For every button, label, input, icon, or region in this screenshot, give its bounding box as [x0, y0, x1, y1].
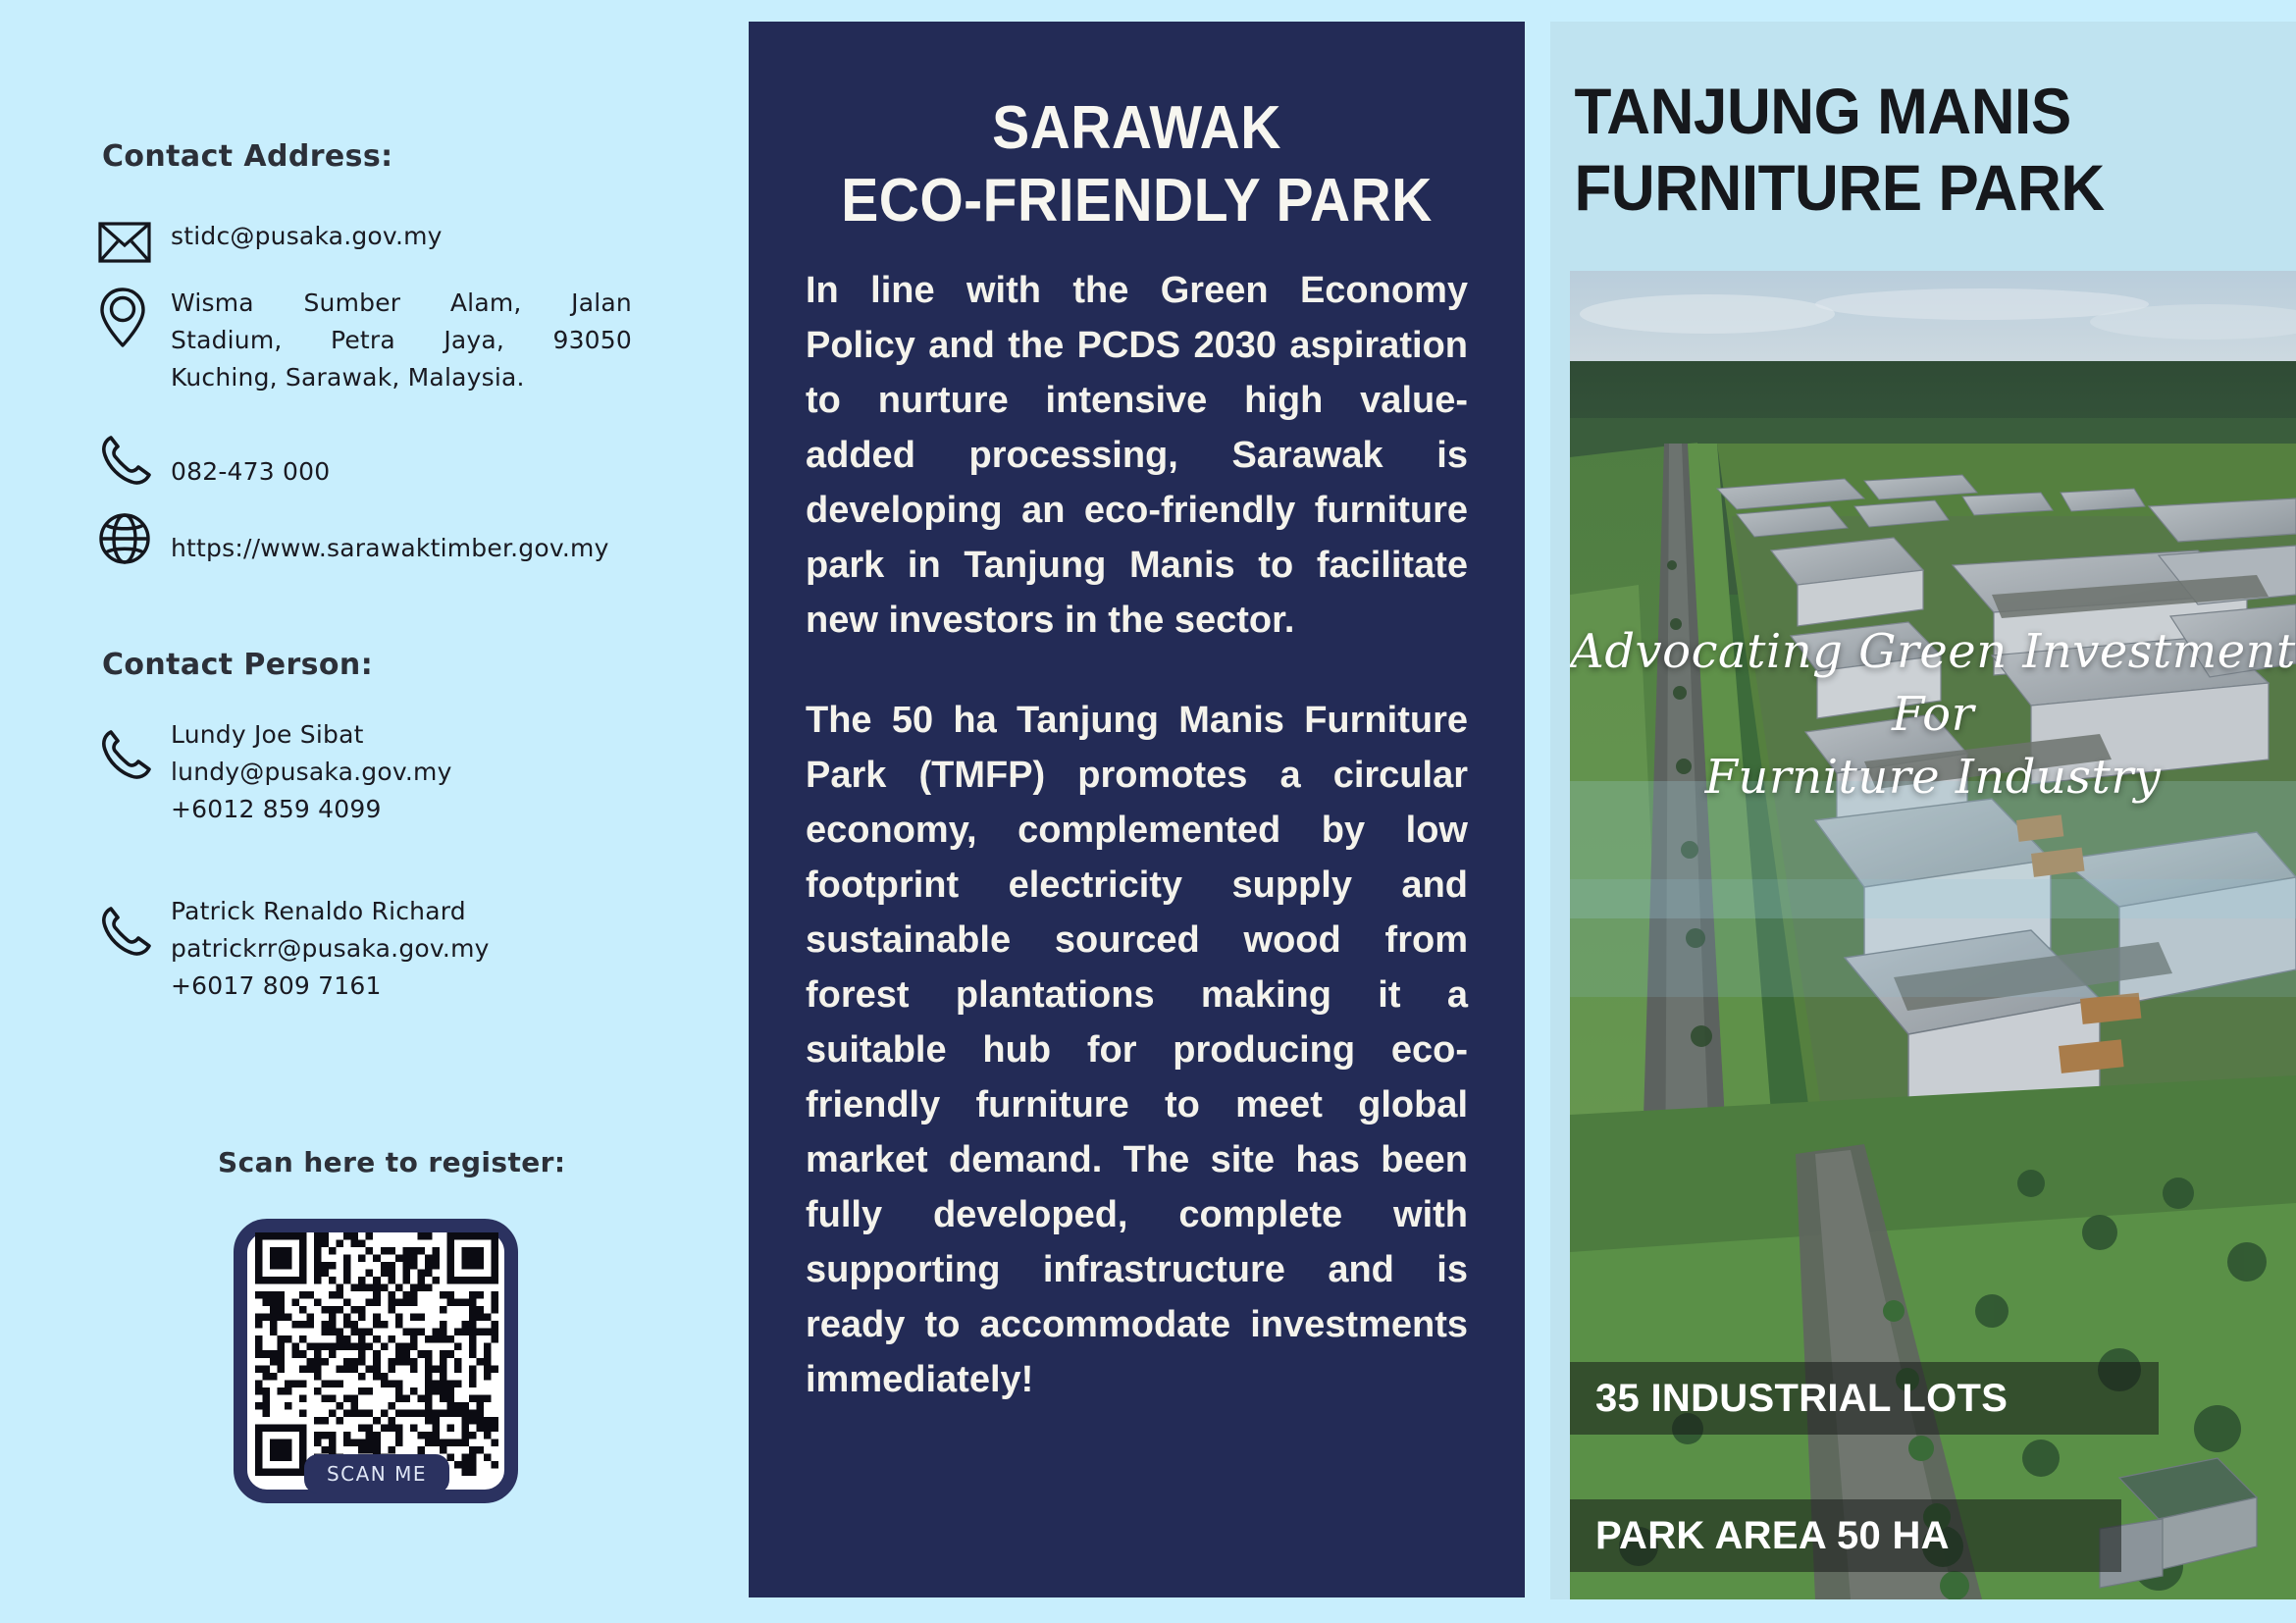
scan-here-heading: Scan here to register: [218, 1146, 565, 1178]
person-2-details: Patrick Renaldo Richard patrickrr@pusaka… [171, 893, 490, 1005]
scan-me-badge: SCAN ME [304, 1454, 449, 1493]
qr-code-image[interactable] [255, 1232, 498, 1476]
location-pin-icon [98, 285, 171, 349]
person-1-email[interactable]: lundy@pusaka.gov.my [171, 754, 452, 791]
phone-icon [98, 432, 171, 487]
center-panel-title: SARAWAK ECO-FRIENDLY PARK [780, 22, 1494, 237]
center-paragraph-1: In line with the Green Economy Policy an… [806, 263, 1468, 648]
center-paragraph-2: The 50 ha Tanjung Manis Furniture Park (… [806, 693, 1468, 1407]
address-word: Petra [331, 322, 395, 359]
contact-phone[interactable]: 082-473 000 [171, 432, 330, 491]
description-panel: SARAWAK ECO-FRIENDLY PARK In line with t… [749, 22, 1525, 1597]
contact-person-heading: Contact Person: [102, 648, 373, 682]
hero-title-line-2: FURNITURE PARK [1574, 151, 2104, 224]
stat-park-area: PARK AREA 50 HA [1570, 1499, 2121, 1572]
globe-icon [98, 510, 171, 565]
person-2-name: Patrick Renaldo Richard [171, 893, 490, 930]
address-word: 93050 [552, 322, 632, 359]
contact-person-2: Patrick Renaldo Richard patrickrr@pusaka… [98, 893, 687, 1005]
person-1-name: Lundy Joe Sibat [171, 716, 452, 754]
center-title-line-1: SARAWAK [992, 94, 1281, 162]
qr-code-block[interactable]: SCAN ME [234, 1219, 518, 1503]
address-line-1: Wisma Sumber Alam, Jalan [171, 285, 632, 322]
person-1-phone[interactable]: +6012 859 4099 [171, 791, 452, 828]
contact-website[interactable]: https://www.sarawaktimber.gov.my [171, 510, 609, 567]
contact-row-website: https://www.sarawaktimber.gov.my [98, 510, 648, 567]
hero-title-line-1: TANJUNG MANIS [1574, 75, 2070, 147]
contact-row-email: stidc@pusaka.gov.my [98, 218, 648, 263]
address-line-3: Kuching, Sarawak, Malaysia. [171, 359, 632, 396]
address-word: Stadium, [171, 322, 283, 359]
phone-icon [98, 716, 171, 781]
person-1-details: Lundy Joe Sibat lundy@pusaka.gov.my +601… [171, 716, 452, 828]
hero-panel: TANJUNG MANIS FURNITURE PARK [1550, 22, 2296, 1599]
address-line-2: Stadium, Petra Jaya, 93050 [171, 322, 632, 359]
center-title-line-2: ECO-FRIENDLY PARK [841, 167, 1433, 235]
stat-industrial-lots: 35 INDUSTRIAL LOTS [1570, 1362, 2159, 1435]
brochure-page: Contact Address: stidc@pusaka.gov.my [0, 0, 2296, 1623]
center-panel-body: In line with the Green Economy Policy an… [749, 237, 1525, 1407]
address-word: Wisma [171, 285, 254, 322]
address-word: Jalan [571, 285, 632, 322]
contact-row-address: Wisma Sumber Alam, Jalan Stadium, Petra … [98, 285, 648, 396]
envelope-icon [98, 218, 171, 263]
contact-address: Wisma Sumber Alam, Jalan Stadium, Petra … [171, 285, 632, 396]
address-word: Sumber [303, 285, 400, 322]
contact-email[interactable]: stidc@pusaka.gov.my [171, 218, 443, 255]
aerial-park-photo: Advocating Green Investment For Furnitur… [1570, 271, 2296, 1599]
person-2-email[interactable]: patrickrr@pusaka.gov.my [171, 930, 490, 968]
address-word: Jaya, [444, 322, 504, 359]
contact-row-phone: 082-473 000 [98, 432, 648, 491]
phone-icon [98, 893, 171, 958]
contact-address-heading: Contact Address: [102, 139, 393, 174]
person-2-phone[interactable]: +6017 809 7161 [171, 968, 490, 1005]
hero-title: TANJUNG MANIS FURNITURE PARK [1550, 22, 2251, 226]
contact-person-1: Lundy Joe Sibat lundy@pusaka.gov.my +601… [98, 716, 687, 828]
address-word: Alam, [450, 285, 522, 322]
contact-panel: Contact Address: stidc@pusaka.gov.my [0, 0, 749, 1623]
